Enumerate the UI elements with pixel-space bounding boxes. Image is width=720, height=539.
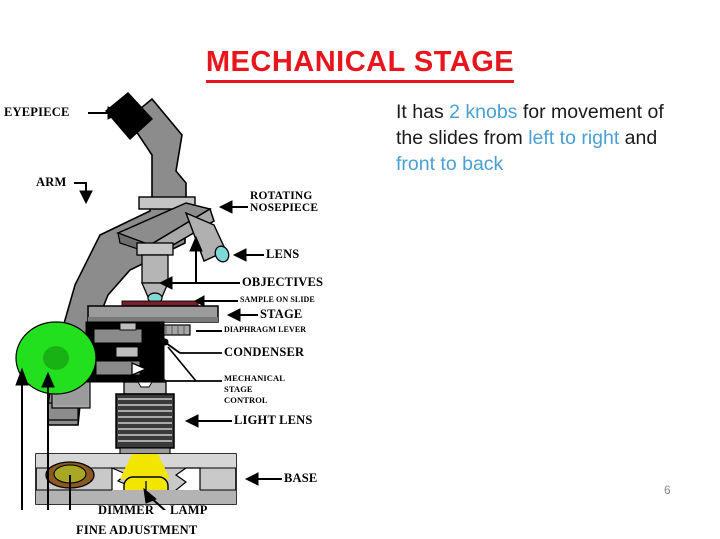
arrowhead-lens xyxy=(234,249,246,261)
body-seg-5: and xyxy=(619,127,657,149)
label-arm: ARM xyxy=(36,175,66,190)
condenser-knob-middle xyxy=(116,347,138,357)
body-highlight-left-right: left to right xyxy=(528,127,619,149)
label-base: BASE xyxy=(284,471,317,486)
light-lens-notch xyxy=(138,382,152,387)
coarse-adjustment-knob-center xyxy=(43,346,69,370)
label-stage: STAGE xyxy=(260,307,302,322)
label-lens: LENS xyxy=(266,247,299,262)
label-nosepiece: NOSEPIECE xyxy=(250,202,318,214)
label-sample-on-slide: SAMPLE ON SLIDE xyxy=(240,295,315,304)
condenser-knob-upper xyxy=(94,329,142,343)
label-light-lens: LIGHT LENS xyxy=(234,413,313,428)
label-eyepiece: EYEPIECE xyxy=(4,105,70,120)
body-paragraph: It has 2 knobs for movement of the slide… xyxy=(396,99,686,177)
base-bottom-strip xyxy=(36,490,236,504)
label-condenser: CONDENSER xyxy=(224,345,304,360)
arrowhead-stage xyxy=(228,309,240,321)
page-number: 6 xyxy=(664,483,671,497)
microscope-diagram: EYEPIECE ARM ROTATING NOSEPIECE LENS OBJ… xyxy=(0,85,400,510)
body-highlight-knobs: 2 knobs xyxy=(449,101,517,123)
leader-condenser-dot xyxy=(162,339,168,345)
label-rotating: ROTATING xyxy=(250,190,313,202)
objective-barrel xyxy=(142,255,168,283)
page-title: MECHANICAL STAGE xyxy=(0,46,720,83)
label-mechanical: MECHANICAL xyxy=(224,373,285,384)
slide-canvas: MECHANICAL STAGE It has 2 knobs for move… xyxy=(0,0,720,539)
body-highlight-front-back: front to back xyxy=(396,153,503,175)
label-diaphragm-lever: DIAPHRAGM LEVER xyxy=(224,325,306,334)
arrowhead-lightlens xyxy=(186,415,198,427)
label-dimmer: DIMMER xyxy=(98,503,154,518)
body-seg-1: It has xyxy=(396,101,449,123)
light-lens-foot xyxy=(120,448,170,454)
objective-collar xyxy=(137,243,173,255)
label-stage-word: STAGE xyxy=(224,384,253,395)
arrowhead-base xyxy=(246,473,258,485)
label-lamp: LAMP xyxy=(170,503,208,518)
condenser-knob-small-top xyxy=(120,323,136,330)
microscope-illustration xyxy=(0,85,400,510)
light-lens-body xyxy=(116,394,174,448)
stage-platform-shadow xyxy=(88,317,218,322)
arrowhead-arm xyxy=(80,191,92,203)
label-fine-adjustment: FINE ADJUSTMENT xyxy=(76,523,197,538)
arrowhead-nosepiece xyxy=(220,201,232,213)
label-objectives: OBJECTIVES xyxy=(242,275,323,290)
label-control: CONTROL xyxy=(224,395,268,406)
page-title-text: MECHANICAL STAGE xyxy=(206,46,514,83)
